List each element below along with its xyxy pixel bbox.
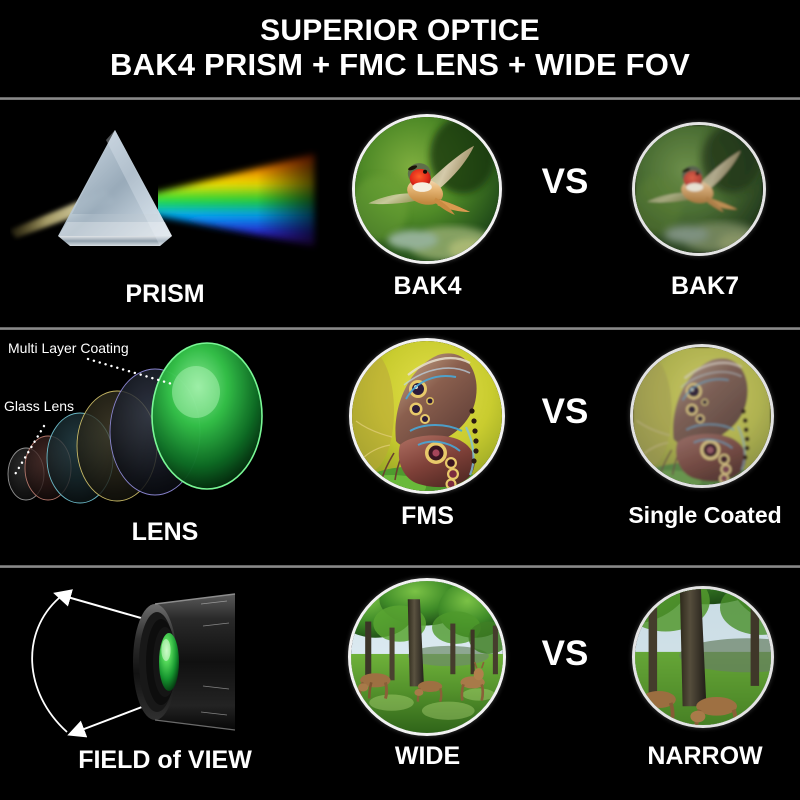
- fms-caption: FMS: [335, 502, 520, 531]
- feature-row-lens: Multi Layer Coating Glass Lens LENS: [0, 330, 800, 565]
- prism-vs-cell: VS: [520, 100, 610, 327]
- prism-caption: PRISM: [0, 280, 330, 309]
- butterfly-photo-vivid: [352, 341, 502, 491]
- prism-illustration-cell: PRISM: [0, 100, 330, 327]
- fov-caption: FIELD of VIEW: [0, 746, 330, 775]
- field-of-view-angle-diagram: [5, 574, 330, 749]
- fov-arc: [32, 598, 67, 732]
- lens-element-stack: [8, 343, 262, 503]
- multi-layer-coating-label: Multi Layer Coating: [8, 340, 129, 356]
- infographic-poster: SUPERIOR OPTICE BAK4 PRISM + FMC LENS + …: [0, 0, 800, 800]
- hummingbird-photo-bright: [355, 117, 499, 261]
- butterfly-photo-washed: [633, 347, 771, 485]
- bak4-compare-cell: BAK4: [335, 100, 520, 327]
- fov-vs-cell: VS: [520, 568, 610, 800]
- narrow-photo-circle: [632, 586, 774, 728]
- bak4-photo-circle: [352, 114, 502, 264]
- wide-caption: WIDE: [335, 742, 520, 771]
- narrow-compare-cell: NARROW: [610, 568, 800, 800]
- vs-label-lens: VS: [520, 392, 610, 432]
- single-coated-compare-cell: Single Coated: [610, 330, 800, 565]
- glass-lens-label: Glass Lens: [4, 398, 74, 414]
- poster-header: SUPERIOR OPTICE BAK4 PRISM + FMC LENS + …: [0, 0, 800, 97]
- single-coated-photo-circle: [630, 344, 774, 488]
- feature-row-field-of-view: FIELD of VIEW: [0, 568, 800, 800]
- wide-compare-cell: WIDE: [335, 568, 520, 800]
- lens-vs-cell: VS: [520, 330, 610, 565]
- glass-prism-body: [58, 130, 172, 246]
- bak7-compare-cell: BAK7: [610, 100, 800, 327]
- camera-lens-barrel: [133, 594, 235, 730]
- fms-compare-cell: FMS: [335, 330, 520, 565]
- vs-label-prism: VS: [520, 162, 610, 202]
- lens-illustration-cell: Multi Layer Coating Glass Lens LENS: [0, 330, 330, 565]
- multi-layer-lens-stack-diagram: [0, 334, 330, 524]
- feature-row-prism: PRISM: [0, 100, 800, 327]
- single-coated-caption: Single Coated: [610, 502, 800, 529]
- header-title-line1: SUPERIOR OPTICE: [260, 15, 540, 47]
- lens-caption: LENS: [0, 518, 330, 547]
- vs-label-fov: VS: [520, 634, 610, 674]
- prism-dispersion-diagram: [10, 118, 320, 278]
- bak7-photo-circle: [632, 122, 766, 256]
- wide-photo-circle: [348, 578, 506, 736]
- deer-forest-photo-narrow: [635, 589, 771, 725]
- hummingbird-photo-dim: [635, 125, 763, 253]
- bak4-caption: BAK4: [335, 272, 520, 301]
- deer-forest-photo-wide: [351, 581, 503, 733]
- narrow-caption: NARROW: [610, 742, 800, 771]
- bak7-caption: BAK7: [610, 272, 800, 301]
- fms-photo-circle: [349, 338, 505, 494]
- header-title-line2: BAK4 PRISM + FMC LENS + WIDE FOV: [110, 49, 690, 82]
- fov-illustration-cell: FIELD of VIEW: [0, 568, 330, 800]
